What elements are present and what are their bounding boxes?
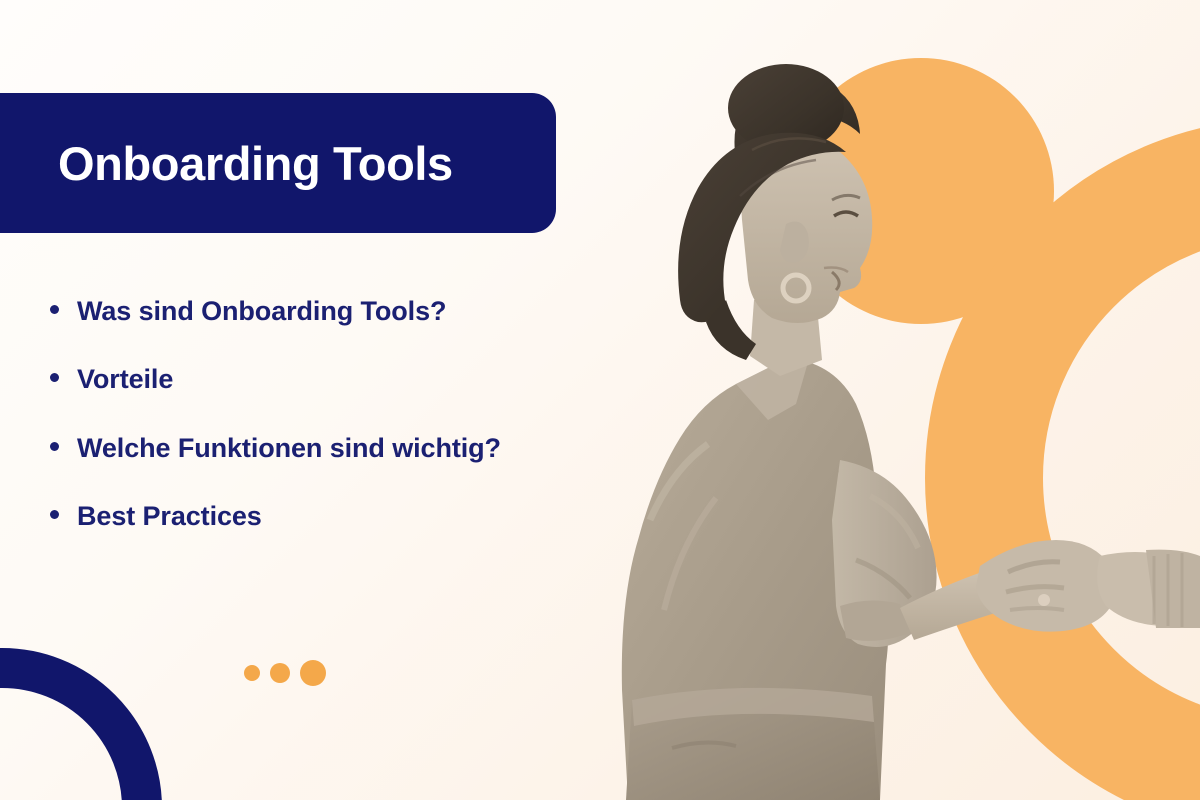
list-item: Welche Funktionen sind wichtig? <box>50 429 550 467</box>
agenda-item-label: Welche Funktionen sind wichtig? <box>77 429 501 467</box>
bullet-dot-icon <box>50 442 59 451</box>
agenda-item-label: Was sind Onboarding Tools? <box>77 292 446 330</box>
slide-canvas: Onboarding Tools Was sind Onboarding Too… <box>0 0 1200 800</box>
agenda-list: Was sind Onboarding Tools? Vorteile Welc… <box>50 292 550 565</box>
navy-ring-decoration <box>0 648 162 800</box>
list-item: Vorteile <box>50 360 550 398</box>
list-item: Was sind Onboarding Tools? <box>50 292 550 330</box>
page-title: Onboarding Tools <box>58 136 453 191</box>
dots-accent-decoration <box>244 660 326 686</box>
agenda-item-label: Best Practices <box>77 497 262 535</box>
bullet-dot-icon <box>50 373 59 382</box>
bullet-dot-icon <box>50 510 59 519</box>
title-banner: Onboarding Tools <box>0 93 556 233</box>
ring-jewelry <box>1038 594 1050 606</box>
agenda-item-label: Vorteile <box>77 360 173 398</box>
accent-dot-medium-icon <box>270 663 290 683</box>
accent-dot-small-icon <box>244 665 260 681</box>
bullet-dot-icon <box>50 305 59 314</box>
accent-dot-large-icon <box>300 660 326 686</box>
list-item: Best Practices <box>50 497 550 535</box>
handshake-photo <box>540 0 1200 800</box>
